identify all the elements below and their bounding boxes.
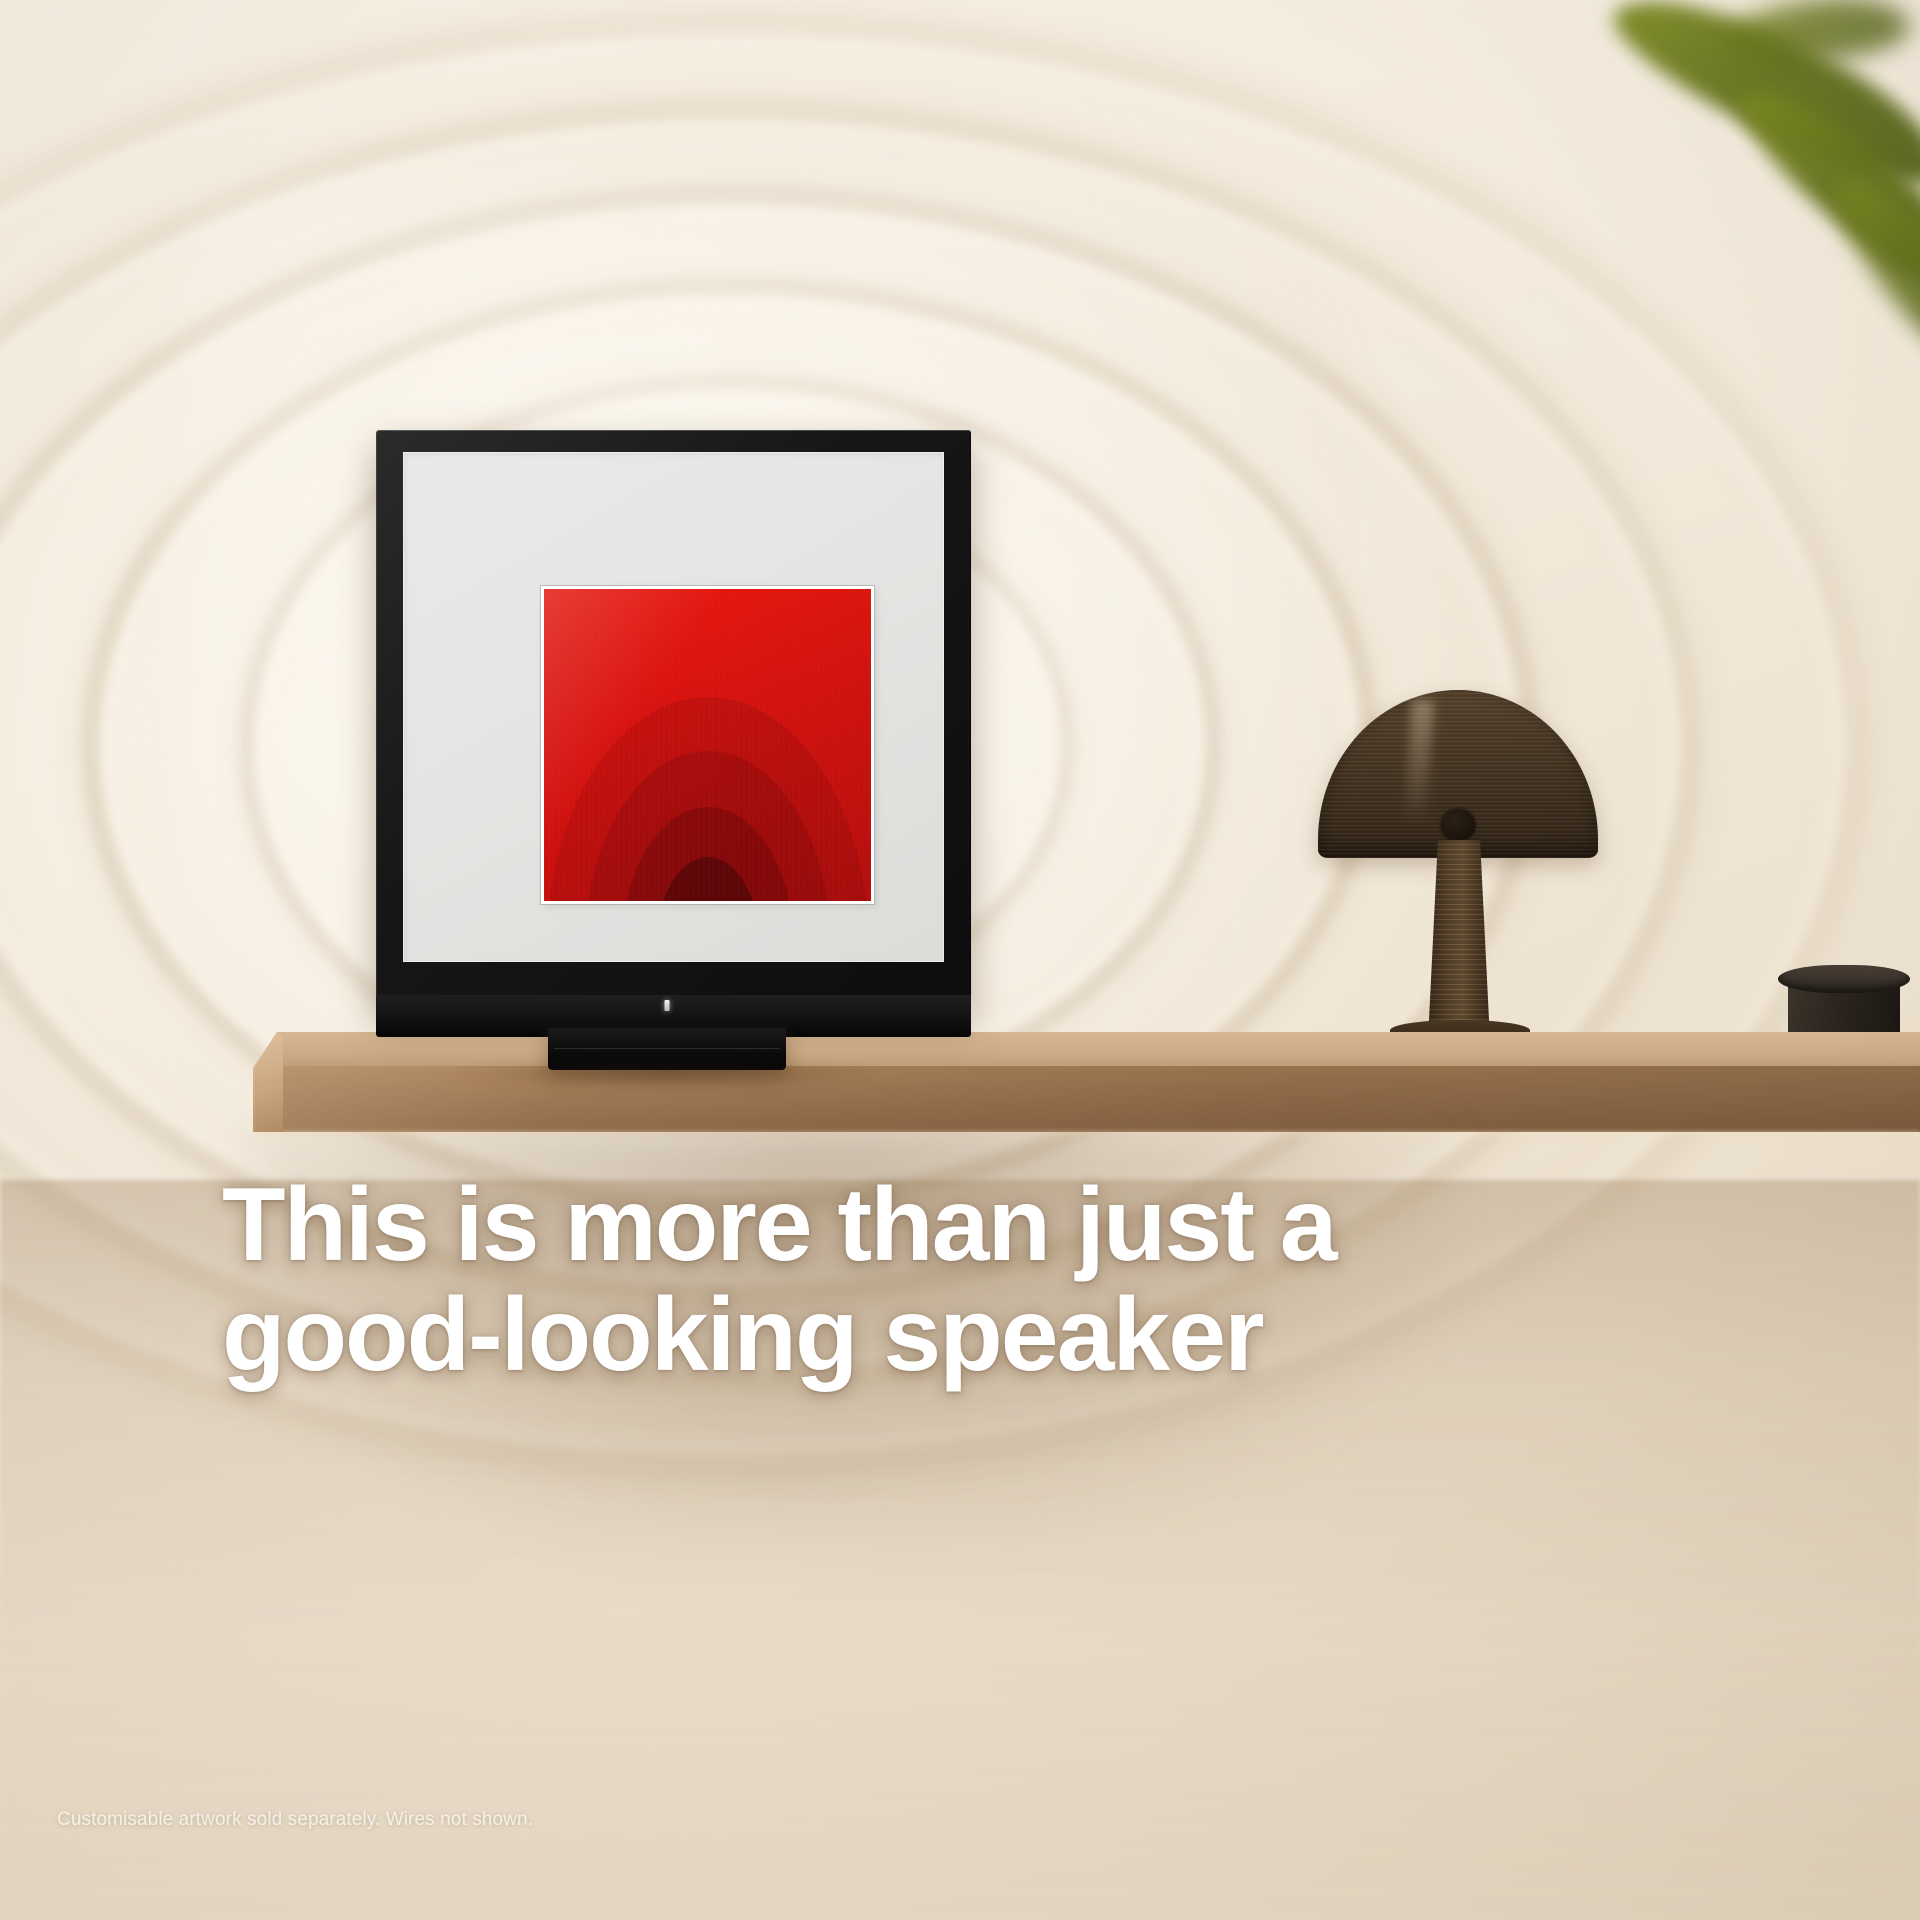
speaker-contact-shadow bbox=[457, 1062, 877, 1084]
speaker-frame bbox=[376, 430, 971, 1010]
lamp-neck-joint bbox=[1440, 808, 1476, 842]
status-led-icon bbox=[665, 1000, 670, 1011]
headline-highlight: more than bbox=[564, 1170, 1049, 1280]
artwork-sheen bbox=[544, 589, 871, 901]
headline-text-part-1: This is bbox=[222, 1167, 564, 1283]
headline-line-1: This is more than just a bbox=[222, 1170, 1722, 1280]
frame-speaker bbox=[363, 430, 971, 1080]
headline-text-part-2: just a bbox=[1049, 1167, 1336, 1283]
mushroom-lamp bbox=[1318, 690, 1618, 1050]
artwork-window bbox=[541, 586, 874, 904]
headline-line-2: good-looking speaker bbox=[222, 1280, 1722, 1390]
headline: This is more than just a good-looking sp… bbox=[222, 1170, 1722, 1390]
vessel-rim bbox=[1778, 965, 1910, 993]
frame-mat bbox=[403, 452, 944, 962]
lamp-stem-grain bbox=[1428, 840, 1490, 1040]
artwork-red-sound-waves bbox=[544, 589, 871, 901]
disclaimer-text: Customisable artwork sold separately. Wi… bbox=[57, 1809, 533, 1831]
lamp-stem bbox=[1428, 840, 1490, 1040]
promo-image-canvas: This is more than just a good-looking sp… bbox=[0, 0, 1920, 1920]
